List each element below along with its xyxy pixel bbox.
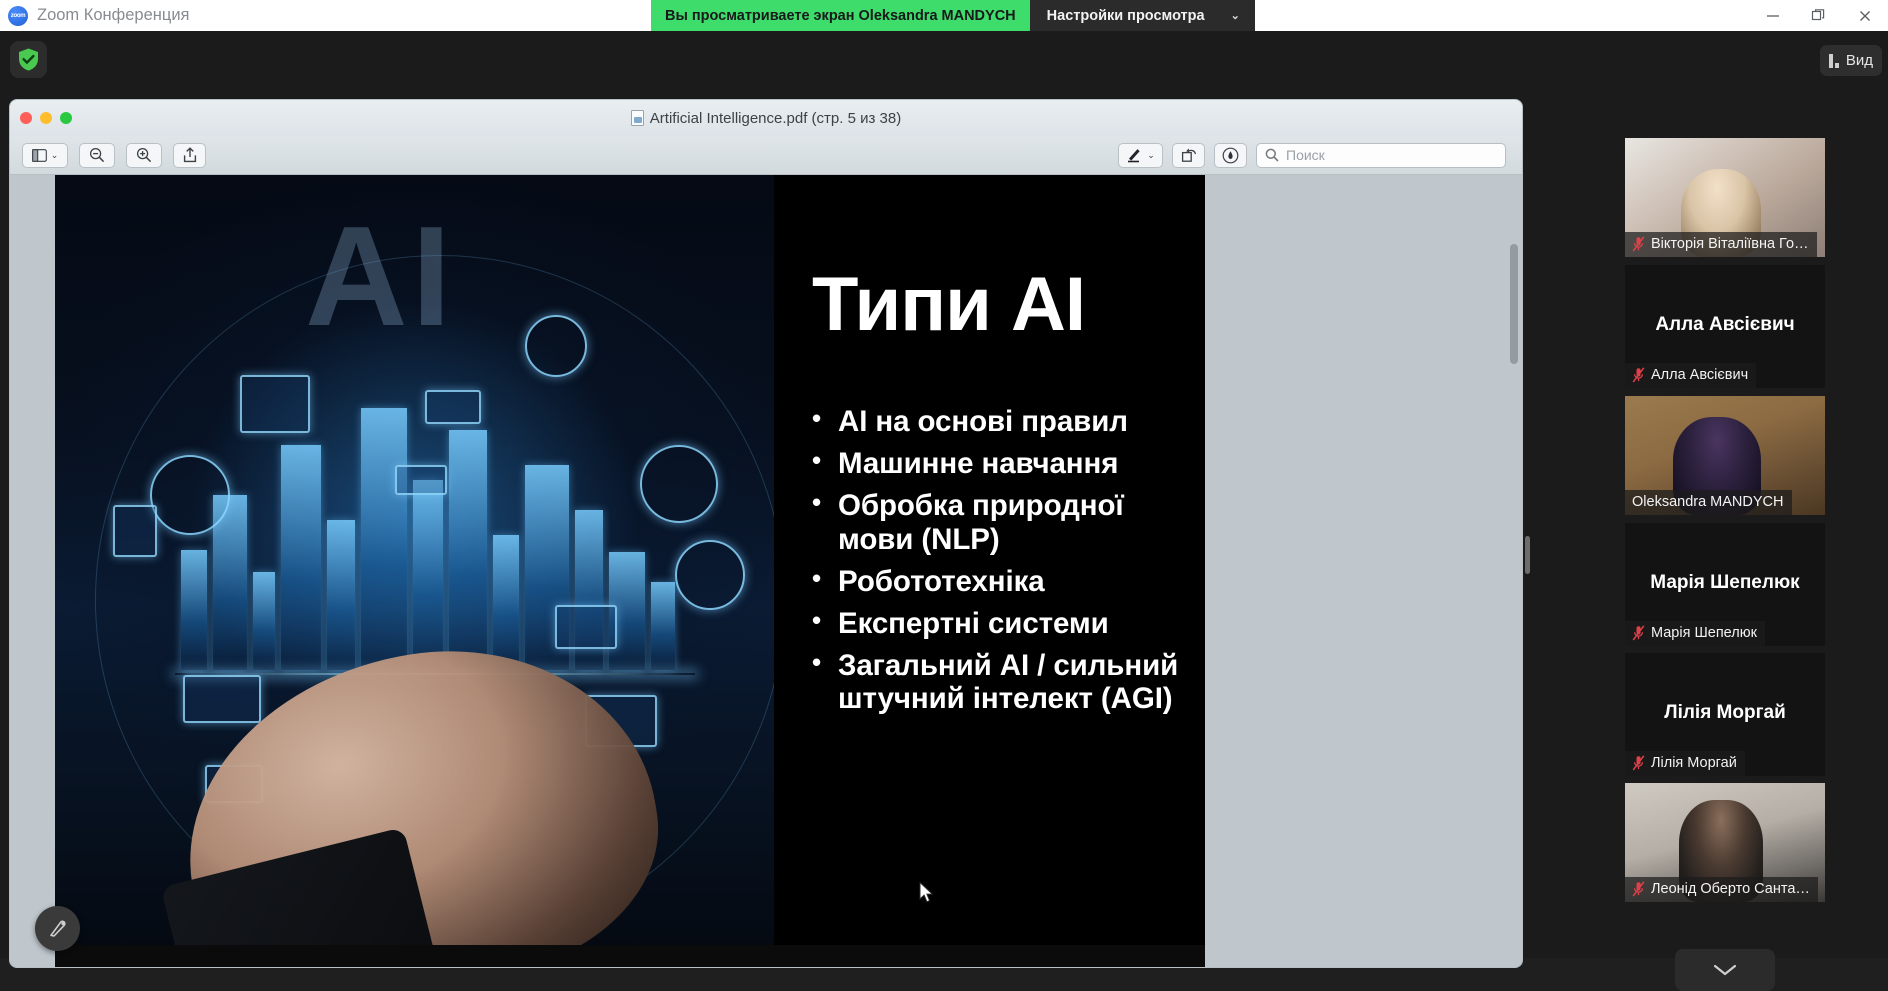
share-icon bbox=[183, 147, 197, 163]
page-scrollbar[interactable] bbox=[1510, 181, 1518, 961]
slide-bullet-list: AI на основі правил Машинне навчання Обр… bbox=[812, 405, 1205, 716]
microphone-muted-icon bbox=[1632, 625, 1645, 641]
screen-share-banner-text: Вы просматриваете экран Oleksandra MANDY… bbox=[665, 8, 1016, 24]
server-node-icon bbox=[640, 445, 718, 523]
screen-share-banner-group: Вы просматриваете экран Oleksandra MANDY… bbox=[651, 0, 1255, 31]
signature-button[interactable] bbox=[1214, 143, 1247, 168]
shared-screen-region[interactable]: Artificial Intelligence.pdf (стр. 5 из 3… bbox=[10, 100, 1522, 967]
participant-name-badge: Алла Авсієвич bbox=[1625, 363, 1756, 388]
zoom-logo-text: zoom bbox=[11, 13, 25, 19]
list-item: Робототехніка bbox=[812, 565, 1205, 598]
participant-display-name: Марія Шепелюк bbox=[1625, 571, 1825, 593]
brain-node-icon bbox=[525, 315, 587, 377]
zoom-out-button[interactable] bbox=[79, 143, 115, 168]
globe-node-icon bbox=[150, 455, 230, 535]
list-item: AI на основі правил bbox=[812, 405, 1205, 438]
slide-page: AI bbox=[55, 175, 1205, 945]
view-settings-button[interactable]: Настройки просмотра ⌄ bbox=[1030, 0, 1255, 31]
participant-name: Лілія Моргай bbox=[1651, 755, 1737, 771]
view-settings-label: Настройки просмотра bbox=[1047, 8, 1205, 24]
security-shield-button[interactable] bbox=[10, 41, 47, 78]
participant-name-badge: Oleksandra MANDYCH bbox=[1625, 490, 1792, 515]
document-title-bar: Artificial Intelligence.pdf (стр. 5 из 3… bbox=[10, 100, 1522, 136]
maximize-window-dot[interactable] bbox=[60, 112, 72, 124]
participant-name-badge: Лілія Моргай bbox=[1625, 751, 1745, 776]
document-title: Artificial Intelligence.pdf (стр. 5 из 3… bbox=[650, 110, 901, 127]
participant-tile-alla[interactable]: Алла Авсієвич Алла Авсієвич bbox=[1625, 265, 1825, 388]
data-chip-icon bbox=[395, 465, 447, 495]
search-placeholder-text: Поиск bbox=[1286, 147, 1325, 163]
chevron-down-icon: ⌄ bbox=[1147, 150, 1155, 161]
participant-display-name: Лілія Моргай bbox=[1625, 701, 1825, 723]
window-title: Zoom Конференция bbox=[37, 6, 189, 25]
close-window-dot[interactable] bbox=[20, 112, 32, 124]
search-input[interactable]: Поиск bbox=[1256, 143, 1506, 168]
shield-check-icon bbox=[17, 47, 40, 72]
cloud-chip-icon bbox=[183, 675, 261, 723]
participant-name: Вікторія Віталіївна Го… bbox=[1651, 236, 1809, 252]
zoom-in-icon bbox=[136, 147, 152, 163]
participant-display-name: Алла Авсієвич bbox=[1625, 313, 1825, 335]
filmstrip-scroll-down-button[interactable] bbox=[1675, 949, 1775, 991]
pencil-icon bbox=[47, 918, 69, 940]
annotate-toggle-button[interactable] bbox=[35, 906, 80, 951]
zoom-in-button[interactable] bbox=[126, 143, 162, 168]
chevron-down-icon: ⌄ bbox=[1231, 9, 1240, 22]
building-chip-icon bbox=[240, 375, 310, 433]
search-icon bbox=[1265, 148, 1279, 162]
next-page-edge bbox=[55, 945, 1205, 967]
document-chip-icon bbox=[425, 390, 481, 424]
page-scrollbar-thumb[interactable] bbox=[1510, 244, 1518, 364]
minimize-icon bbox=[1766, 9, 1780, 23]
minimize-window-dot[interactable] bbox=[40, 112, 52, 124]
slide-illustration: AI bbox=[55, 175, 774, 945]
close-button[interactable] bbox=[1842, 0, 1888, 31]
pdf-page-canvas[interactable]: AI bbox=[10, 175, 1522, 967]
preview-window-titlebar: Artificial Intelligence.pdf (стр. 5 из 3… bbox=[10, 100, 1522, 136]
screen-share-banner: Вы просматриваете экран Oleksandra MANDY… bbox=[651, 0, 1030, 31]
list-item: Машинне навчання bbox=[812, 447, 1205, 480]
magnifier-chip-icon bbox=[555, 605, 617, 649]
participant-tile-viktoriia[interactable]: Вікторія Віталіївна Го… bbox=[1625, 138, 1825, 257]
preview-toolbar-left: ⌄ bbox=[22, 143, 206, 168]
list-item: Загальний AI / сильний штучний інтелект … bbox=[812, 649, 1205, 715]
chevron-down-icon: ⌄ bbox=[51, 150, 59, 161]
gear-node-icon bbox=[675, 540, 745, 610]
rotate-button[interactable] bbox=[1172, 143, 1205, 168]
close-icon bbox=[1858, 9, 1872, 23]
traffic-light-buttons[interactable] bbox=[20, 112, 72, 124]
view-mode-button[interactable]: Вид bbox=[1820, 45, 1882, 76]
list-item: Обробка природної мови (NLP) bbox=[812, 489, 1205, 555]
preview-toolbar: ⌄ bbox=[10, 136, 1522, 175]
microphone-muted-icon bbox=[1632, 755, 1645, 771]
participant-name: Леонід Оберто Санта… bbox=[1651, 881, 1810, 897]
markup-tool-button[interactable]: ⌄ bbox=[1118, 143, 1163, 168]
zoom-out-icon bbox=[89, 147, 105, 163]
microphone-muted-icon bbox=[1632, 236, 1645, 252]
rotate-icon bbox=[1181, 147, 1197, 163]
participant-name: Алла Авсієвич bbox=[1651, 367, 1748, 383]
layout-grid-icon bbox=[1829, 54, 1839, 68]
pen-icon bbox=[1126, 147, 1142, 163]
restore-icon bbox=[1811, 8, 1827, 24]
chevron-down-icon bbox=[1712, 963, 1738, 977]
share-button[interactable] bbox=[173, 143, 206, 168]
panel-resize-handle[interactable] bbox=[1525, 536, 1530, 574]
microphone-muted-icon bbox=[1632, 367, 1645, 383]
list-item: Експертні системи bbox=[812, 607, 1205, 640]
sidebar-toggle-button[interactable]: ⌄ bbox=[22, 143, 68, 168]
window-controls bbox=[1750, 0, 1888, 31]
signature-icon bbox=[1222, 147, 1239, 164]
microphone-muted-icon bbox=[1632, 881, 1645, 897]
slide-text-column: Типи AI AI на основі правил Машинне навч… bbox=[774, 175, 1205, 945]
robot-arm-icon bbox=[113, 505, 157, 557]
cursor-arrow-icon bbox=[919, 882, 935, 904]
participant-name: Oleksandra MANDYCH bbox=[1632, 494, 1784, 510]
slide-title: Типи AI bbox=[812, 267, 1205, 343]
participant-name-badge: Леонід Оберто Санта… bbox=[1625, 877, 1818, 902]
zoom-app-body: Вид Artificial Intelligence.pdf (стр. 5 … bbox=[0, 31, 1888, 958]
zoom-logo-icon: zoom bbox=[8, 6, 28, 26]
participant-tile-oleksandra[interactable]: Oleksandra MANDYCH bbox=[1625, 396, 1825, 515]
view-mode-label: Вид bbox=[1846, 52, 1873, 69]
participant-tile-leonid[interactable]: Леонід Оберто Санта… bbox=[1625, 783, 1825, 902]
participant-tile-mariia[interactable]: Марія Шепелюк Марія Шепелюк bbox=[1625, 523, 1825, 646]
sidebar-panel-icon bbox=[32, 149, 47, 162]
minimize-button[interactable] bbox=[1750, 0, 1796, 31]
participants-filmstrip[interactable]: Вікторія Віталіївна Го… Алла Авсієвич Ал… bbox=[1625, 62, 1825, 989]
participant-name-badge: Марія Шепелюк bbox=[1625, 621, 1765, 646]
preview-toolbar-right: ⌄ bbox=[1118, 143, 1506, 168]
participant-name: Марія Шепелюк bbox=[1651, 625, 1757, 641]
pdf-file-icon bbox=[631, 110, 644, 126]
restore-button[interactable] bbox=[1796, 0, 1842, 31]
participant-tile-liliia[interactable]: Лілія Моргай Лілія Моргай bbox=[1625, 653, 1825, 776]
participant-name-badge: Вікторія Віталіївна Го… bbox=[1625, 232, 1817, 257]
